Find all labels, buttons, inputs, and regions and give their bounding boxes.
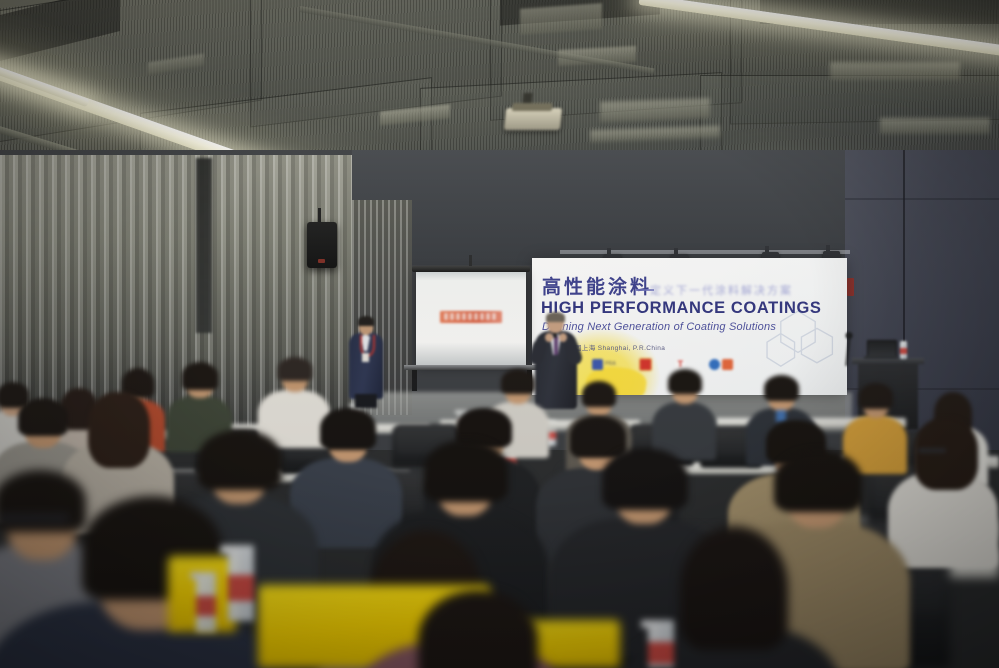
presenter xyxy=(533,313,579,413)
banner-title-english: HIGH PERFORMANCE COATINGS xyxy=(541,300,822,317)
banner-location: 中国上海 Shanghai, P.R.China xyxy=(568,342,665,352)
banner-title-chinese: 高性能涂料 xyxy=(542,278,652,297)
presenter-hair xyxy=(546,312,565,322)
eyeglasses xyxy=(0,514,70,523)
slide-title-text xyxy=(444,313,496,320)
projection-screen xyxy=(416,271,526,366)
ceiling-vent xyxy=(600,98,710,122)
wall-mounted-loudspeaker xyxy=(307,222,337,268)
standing-attendee-navy-suit xyxy=(349,318,383,404)
eyeglasses xyxy=(918,448,946,453)
conference-room-photo: 高性能涂料 定义下一代涂料解决方案 HIGH PERFORMANCE COATI… xyxy=(0,0,999,668)
presenter-hand-left xyxy=(545,333,553,342)
presenter-tie xyxy=(554,336,558,355)
sponsor-logo-2 xyxy=(639,358,652,371)
attendee-legs xyxy=(355,394,377,408)
laptop-base xyxy=(864,356,898,359)
ceiling-vent xyxy=(880,118,990,134)
sponsor-logo-4 xyxy=(709,358,733,371)
lighting-track xyxy=(560,250,850,254)
presenter-hand-right xyxy=(559,333,567,342)
water-bottle xyxy=(900,341,907,359)
back-wall-upper xyxy=(352,150,852,265)
wall-seam xyxy=(845,198,999,200)
sponsor-logo-1: PRA xyxy=(592,358,616,371)
fire-extinguisher xyxy=(847,278,854,296)
banner-subtitle-chinese: 定义下一代涂料解决方案 xyxy=(650,282,793,298)
ceiling-vent xyxy=(830,62,960,80)
ceiling-projector xyxy=(504,108,562,130)
badge xyxy=(362,353,369,362)
screen-top-frame xyxy=(412,266,530,272)
attendee-hair xyxy=(358,316,374,326)
laptop xyxy=(866,340,896,359)
curtain-gap xyxy=(196,158,212,333)
screen-leg xyxy=(412,369,417,391)
